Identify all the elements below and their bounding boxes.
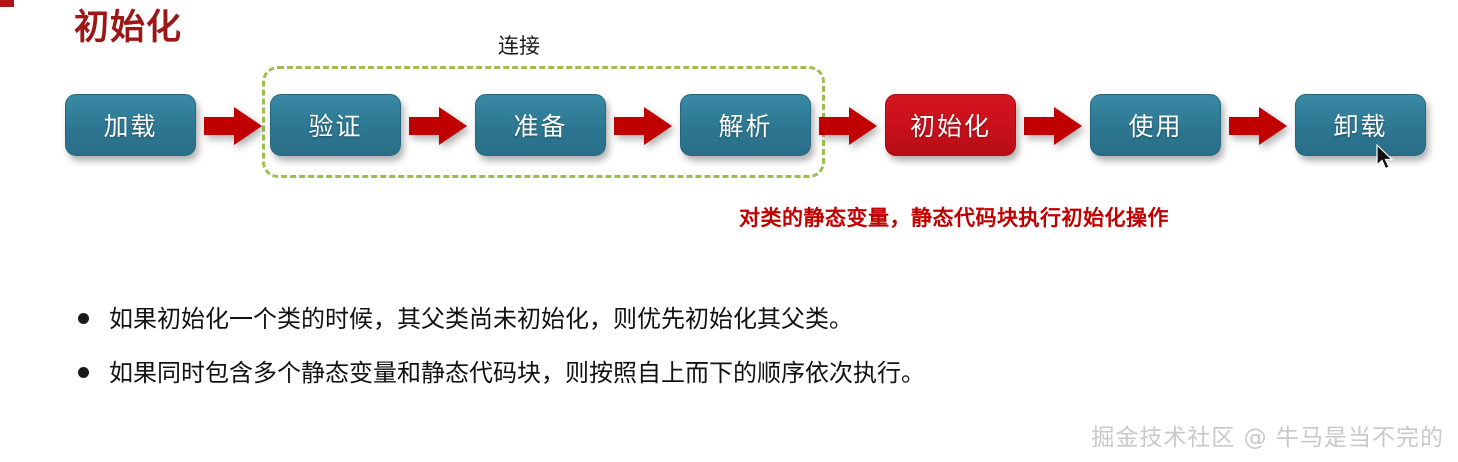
bullet-item: 如果初始化一个类的时候，其父类尚未初始化，则优先初始化其父类。 <box>78 302 1178 336</box>
flow-arrow-0 <box>204 107 262 145</box>
flow-arrow-5 <box>1229 107 1287 145</box>
bullet-item: 如果同时包含多个静态变量和静态代码块，则按照自上而下的顺序依次执行。 <box>78 356 1178 390</box>
bullet-dot-icon <box>78 367 89 378</box>
watermark: 掘金技术社区 @ 牛马是当不完的 <box>1091 418 1444 452</box>
flow-arrow-4 <box>1024 107 1082 145</box>
flow-node-6[interactable]: 卸载 <box>1295 94 1426 156</box>
init-caption: 对类的静态变量，静态代码块执行初始化操作 <box>739 202 1169 232</box>
bullet-text: 如果同时包含多个静态变量和静态代码块，则按照自上而下的顺序依次执行。 <box>109 356 925 390</box>
corner-mark <box>0 0 14 7</box>
flow-node-3[interactable]: 解析 <box>680 94 811 156</box>
linking-group-label: 连接 <box>498 30 540 60</box>
flow-node-label: 准备 <box>513 107 567 143</box>
class-lifecycle-flow: 加载验证准备解析初始化使用卸载 <box>0 94 1458 160</box>
flow-node-0[interactable]: 加载 <box>65 94 196 156</box>
flow-node-4[interactable]: 初始化 <box>885 94 1016 156</box>
bullet-text: 如果初始化一个类的时候，其父类尚未初始化，则优先初始化其父类。 <box>109 302 853 336</box>
flow-node-label: 解析 <box>718 107 772 143</box>
flow-node-1[interactable]: 验证 <box>270 94 401 156</box>
flow-arrow-2 <box>614 107 672 145</box>
flow-node-label: 初始化 <box>910 107 991 143</box>
flow-node-5[interactable]: 使用 <box>1090 94 1221 156</box>
flow-arrow-1 <box>409 107 467 145</box>
flow-node-label: 卸载 <box>1333 107 1387 143</box>
flow-node-label: 验证 <box>308 107 362 143</box>
flow-arrow-3 <box>819 107 877 145</box>
flow-node-2[interactable]: 准备 <box>475 94 606 156</box>
bullet-dot-icon <box>78 313 89 324</box>
flow-node-label: 使用 <box>1128 107 1182 143</box>
page-title: 初始化 <box>74 6 182 50</box>
bullet-list: 如果初始化一个类的时候，其父类尚未初始化，则优先初始化其父类。如果同时包含多个静… <box>78 302 1178 410</box>
flow-node-label: 加载 <box>103 107 157 143</box>
mouse-cursor <box>1376 144 1396 172</box>
